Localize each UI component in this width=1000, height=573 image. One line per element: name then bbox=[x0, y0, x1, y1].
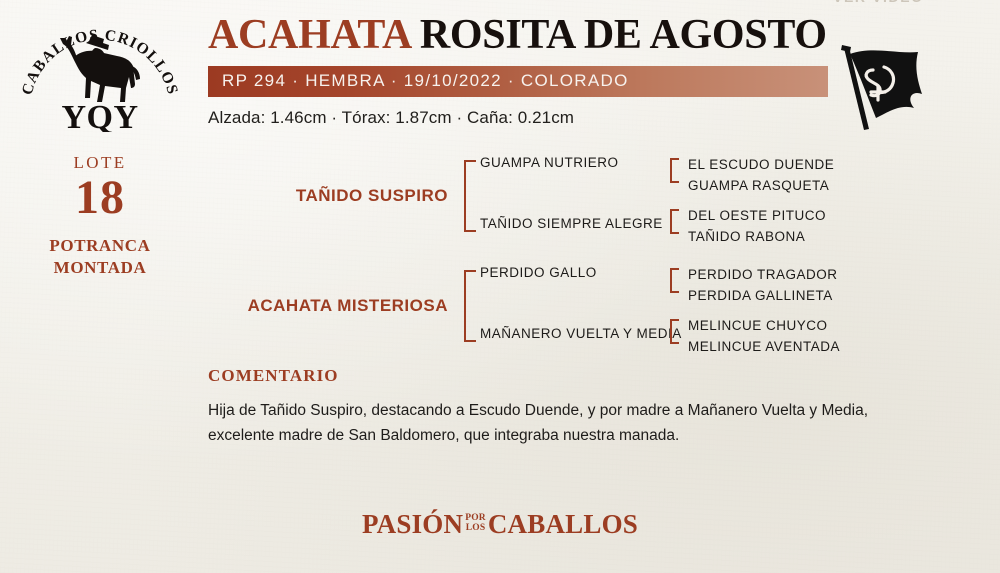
lot-number: 18 bbox=[0, 173, 200, 223]
pedigree-gen3-line: DEL OESTE PITUCO bbox=[688, 205, 970, 226]
pedigree-dam-gen2-top: PERDIDO GALLO bbox=[480, 265, 597, 280]
pedigree-bracket-large bbox=[464, 270, 476, 342]
pedigree-sire-gen2-top: GUAMPA NUTRIERO bbox=[480, 155, 619, 170]
lot-label: LOTE bbox=[0, 154, 200, 171]
lot-category-line2: MONTADA bbox=[0, 257, 200, 278]
page-title-accent: ACAHATA bbox=[208, 12, 410, 58]
info-bar-text: RP 294 · HEMBRA · 19/10/2022 · COLORADO bbox=[208, 71, 629, 91]
brand-flag-icon bbox=[826, 42, 940, 134]
pedigree-sire-gen3-pair-2: DEL OESTE PITUCO TAÑIDO RABONA bbox=[670, 205, 970, 248]
brand-logo: CABALLOS CRIOLLOS YQY bbox=[15, 14, 185, 132]
catalog-page: VER VIDEO CABALLOS CRIOLLOS bbox=[0, 0, 1000, 573]
pedigree-gen3-line: PERDIDO TRAGADOR bbox=[688, 264, 970, 285]
footer-wordmark: PASIÓN POR LOS CABALLOS bbox=[362, 509, 638, 540]
pedigree-bracket-small bbox=[670, 268, 679, 293]
pedigree-sire-name: TAÑIDO SUSPIRO bbox=[208, 186, 448, 206]
lot-block: LOTE 18 POTRANCA MONTADA bbox=[0, 154, 200, 278]
footer: PASIÓN POR LOS CABALLOS bbox=[0, 509, 1000, 540]
pedigree-gen3-line: MELINCUE CHUYCO bbox=[688, 315, 970, 336]
footer-word-1: PASIÓN bbox=[362, 509, 463, 540]
comment-body: Hija de Tañido Suspiro, destacando a Esc… bbox=[208, 398, 880, 448]
lot-category-line1: POTRANCA bbox=[0, 235, 200, 256]
brand-monogram: YQY bbox=[61, 99, 138, 132]
pedigree-dam-name: ACAHATA MISTERIOSA bbox=[208, 296, 448, 316]
pedigree-tree: TAÑIDO SUSPIRO GUAMPA NUTRIERO TAÑIDO SI… bbox=[208, 150, 988, 350]
comment-block: COMENTARIO Hija de Tañido Suspiro, desta… bbox=[208, 366, 908, 448]
pedigree-gen3-line: MELINCUE AVENTADA bbox=[688, 336, 970, 357]
left-column: CABALLOS CRIOLLOS YQY bbox=[0, 8, 200, 278]
page-title-rest: ROSITA DE AGOSTO bbox=[420, 12, 827, 58]
footer-word-2: CABALLOS bbox=[488, 509, 638, 540]
pedigree-bracket-small bbox=[670, 319, 679, 344]
pedigree-gen3-line: GUAMPA RASQUETA bbox=[688, 175, 970, 196]
lot-category: POTRANCA MONTADA bbox=[0, 235, 200, 278]
info-bar: RP 294 · HEMBRA · 19/10/2022 · COLORADO bbox=[208, 66, 828, 97]
footer-small-stack: POR LOS bbox=[465, 514, 486, 535]
pedigree-sire-gen2-bottom: TAÑIDO SIEMPRE ALEGRE bbox=[480, 216, 663, 231]
pedigree-bracket-small bbox=[670, 158, 679, 183]
pedigree-gen3-line: EL ESCUDO DUENDE bbox=[688, 154, 970, 175]
pedigree-bracket-small bbox=[670, 209, 679, 234]
pedigree-gen3-line: TAÑIDO RABONA bbox=[688, 226, 970, 247]
pedigree-bracket-large bbox=[464, 160, 476, 232]
pedigree-gen3-line: PERDIDA GALLINETA bbox=[688, 285, 970, 306]
brand-logo-svg: CABALLOS CRIOLLOS YQY bbox=[15, 14, 185, 132]
footer-small-2: LOS bbox=[465, 524, 486, 534]
ver-video-label[interactable]: VER VIDEO bbox=[833, 0, 924, 5]
pedigree-sire-gen3-pair-1: EL ESCUDO DUENDE GUAMPA RASQUETA bbox=[670, 154, 970, 197]
comment-heading: COMENTARIO bbox=[208, 366, 908, 386]
pedigree-dam-gen3-pair-1: PERDIDO TRAGADOR PERDIDA GALLINETA bbox=[670, 264, 970, 307]
pedigree-dam-gen2-bottom: MAÑANERO VUELTA Y MEDIA bbox=[480, 326, 682, 341]
pedigree-dam-gen3-pair-2: MELINCUE CHUYCO MELINCUE AVENTADA bbox=[670, 315, 970, 358]
